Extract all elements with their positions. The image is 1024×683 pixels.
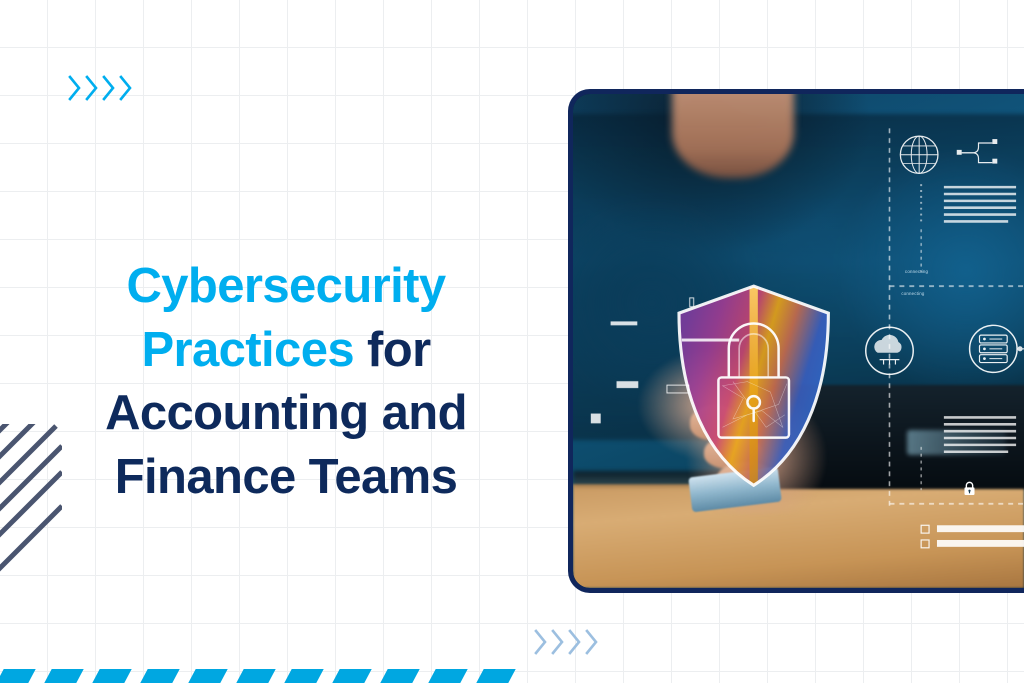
title-word-for: for [367,323,431,377]
chevron-right-icon [68,74,82,102]
parallelogram [188,669,227,683]
parallelogram [92,669,131,683]
chevron-right-icon [568,628,582,656]
chevron-arrows-bottom [534,628,602,656]
parallelogram [0,669,36,683]
title-line-3: Accounting and [76,382,496,446]
chevron-right-icon [551,628,565,656]
photo-person-neck [672,94,794,178]
title-accent-practices: Practices [141,323,354,377]
hero-photo-card: connecting connecting [568,89,1024,593]
chevron-right-icon [534,628,548,656]
chevron-right-icon [585,628,599,656]
parallelogram [44,669,83,683]
parallelogram [236,669,275,683]
title-line-4: Finance Teams [76,446,496,510]
parallelogram [476,669,515,683]
parallelogram [380,669,419,683]
parallelogram [140,669,179,683]
chevron-right-icon [119,74,133,102]
title-line-1: Cybersecurity [76,255,496,319]
title-line-2: Practices for [76,319,496,383]
parallelogram [284,669,323,683]
photo-laptop-highlight [907,430,1006,455]
security-shield-hologram [668,282,839,489]
title-accent-cybersecurity: Cybersecurity [126,259,445,313]
page-title: Cybersecurity Practices for Accounting a… [76,255,496,510]
hero-photo: connecting connecting [573,94,1024,588]
parallelogram [332,669,371,683]
diagonal-stripes-block [0,424,62,580]
parallelogram [428,669,467,683]
chevron-arrows-top [68,74,136,102]
parallelogram-strip [0,657,528,683]
chevron-right-icon [102,74,116,102]
chevron-right-icon [85,74,99,102]
poster-canvas: Cybersecurity Practices for Accounting a… [0,0,1024,683]
